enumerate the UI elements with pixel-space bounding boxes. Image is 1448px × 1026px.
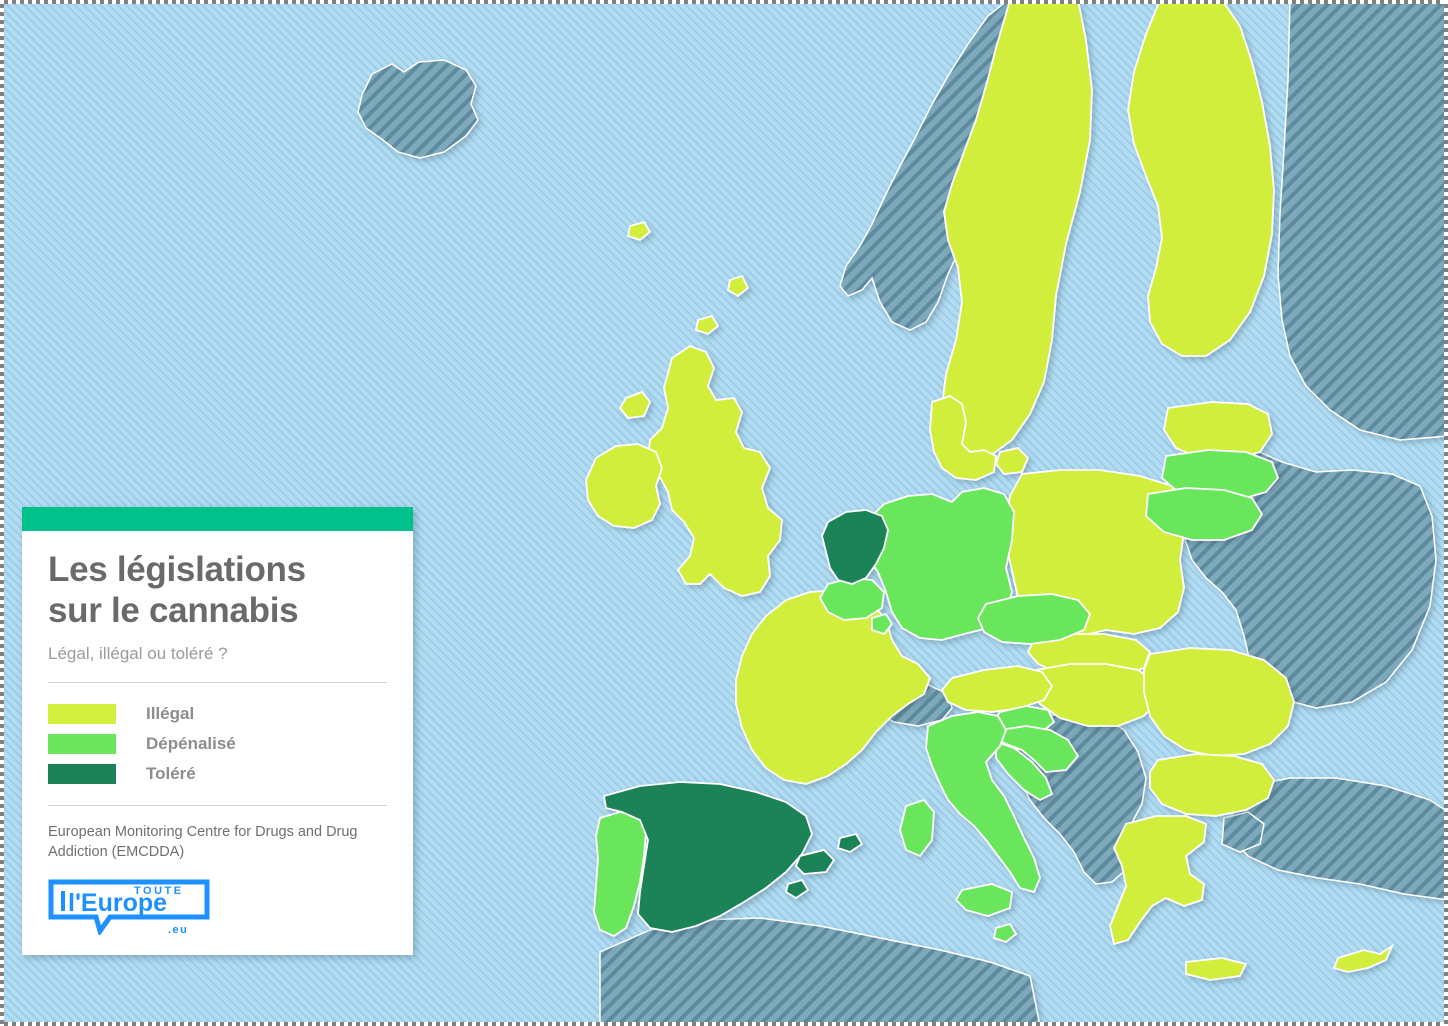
logo-word-toute: TOUTE xyxy=(134,885,184,897)
country-italy-sardinia xyxy=(900,800,934,856)
logo-svg: l'Europe TOUTE .eu xyxy=(48,879,210,935)
legend-swatch-illegal xyxy=(48,704,116,724)
country-greece-crete xyxy=(1186,958,1246,980)
logo-word-tld: .eu xyxy=(168,924,188,935)
divider-top xyxy=(48,682,387,683)
legend: Illégal Dépénalisé Toléré xyxy=(48,699,387,789)
country-uk-faroe xyxy=(628,222,650,240)
toute-leurope-logo[interactable]: l'Europe TOUTE .eu xyxy=(48,879,210,935)
map-infographic: Les législations sur le cannabis Légal, … xyxy=(0,0,1448,1026)
country-iceland xyxy=(358,60,478,158)
country-portugal xyxy=(594,812,646,936)
legend-swatch-depenalise xyxy=(48,734,116,754)
divider-bottom xyxy=(48,805,387,806)
country-malta xyxy=(994,924,1016,942)
legend-label-illegal: Illégal xyxy=(146,704,194,724)
legend-item-tolere: Toléré xyxy=(48,759,387,789)
country-spain-balearics-minor xyxy=(838,834,862,852)
country-uk-orkney xyxy=(696,316,718,334)
canvas-edge-bottom xyxy=(0,1022,1448,1026)
country-cyprus xyxy=(1334,946,1392,972)
card-accent-bar xyxy=(22,507,413,531)
page-subtitle: Légal, illégal ou toléré ? xyxy=(48,644,387,664)
legend-label-tolere: Toléré xyxy=(146,764,196,784)
source-attribution: European Monitoring Centre for Drugs and… xyxy=(48,822,387,863)
country-ireland xyxy=(586,444,662,528)
country-united-kingdom xyxy=(648,346,782,596)
country-finland xyxy=(1128,0,1274,356)
country-lithuania xyxy=(1146,488,1262,540)
legend-item-illegal: Illégal xyxy=(48,699,387,729)
country-denmark-isle xyxy=(996,448,1028,474)
country-russia xyxy=(1278,0,1448,440)
country-italy-sicily xyxy=(956,884,1012,916)
page-title-line2: sur le cannabis xyxy=(48,591,298,630)
legend-label-depenalise: Dépénalisé xyxy=(146,734,236,754)
legend-item-depenalise: Dépénalisé xyxy=(48,729,387,759)
country-spain-ibiza xyxy=(786,880,808,898)
canvas-edge-left xyxy=(0,0,4,1026)
country-north-africa xyxy=(600,918,1040,1026)
canvas-edge-right xyxy=(1444,0,1448,1026)
canvas-edge-top xyxy=(0,0,1448,4)
country-uk-scotland-isles xyxy=(620,392,650,418)
legend-swatch-tolere xyxy=(48,764,116,784)
country-uk-shetland xyxy=(728,276,748,296)
page-title-line1: Les législations xyxy=(48,550,306,589)
page-title: Les législations sur le cannabis xyxy=(48,549,387,632)
country-austria xyxy=(942,666,1052,712)
logo-apostrophe-bar xyxy=(61,891,65,911)
country-greece xyxy=(1110,816,1206,944)
info-card: Les législations sur le cannabis Légal, … xyxy=(22,507,413,955)
card-body: Les législations sur le cannabis Légal, … xyxy=(22,531,413,955)
